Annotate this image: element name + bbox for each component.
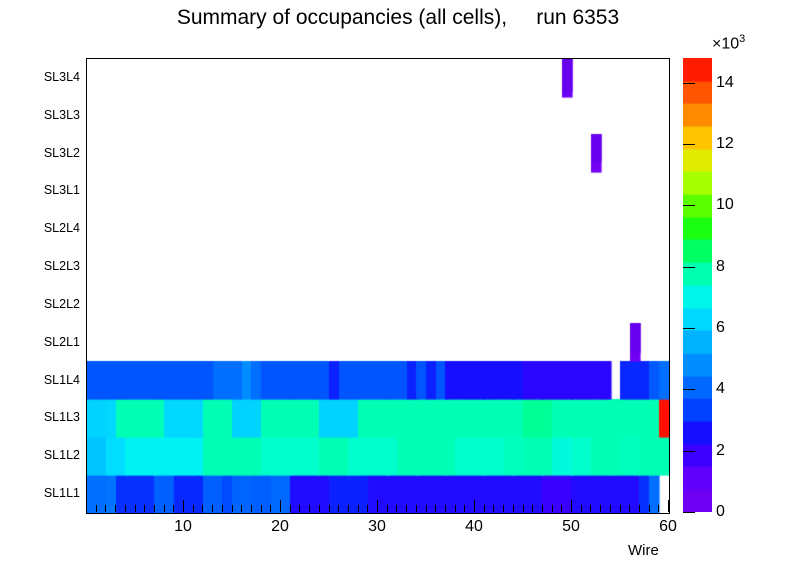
color-bar-tick-label: 12: [716, 135, 734, 153]
color-bar-canvas: [683, 58, 712, 512]
y-axis-tick-label: SL2L2: [2, 297, 80, 311]
x-axis-tick-mark: [464, 505, 465, 512]
x-axis-tick-mark: [571, 500, 572, 512]
x-axis-tick-mark: [629, 505, 630, 512]
color-bar-multiplier-base: ×10: [712, 35, 739, 52]
y-axis-tick-label: SL3L2: [2, 146, 80, 160]
x-axis-tick-mark: [193, 505, 194, 512]
heatmap-canvas: [87, 59, 669, 513]
x-axis-tick-mark: [474, 500, 475, 512]
root-canvas: Summary of occupancies (all cells), run …: [0, 0, 796, 572]
x-axis-tick-mark: [668, 500, 669, 512]
x-axis-tick-mark: [445, 505, 446, 512]
color-bar-multiplier-exponent: 3: [739, 33, 745, 45]
x-axis-tick-label: 50: [562, 518, 580, 536]
color-bar-tick-label: 2: [716, 442, 725, 460]
x-axis-tick-mark: [455, 505, 456, 512]
x-axis-tick-mark: [135, 505, 136, 512]
x-axis-tick-mark: [348, 505, 349, 512]
color-bar-tick-label: 8: [716, 258, 725, 276]
x-axis-tick-mark: [561, 505, 562, 512]
x-axis-title: Wire: [628, 542, 659, 559]
x-axis-tick-mark: [435, 505, 436, 512]
color-bar-tick-label: 14: [716, 74, 734, 92]
color-bar-tick-label: 0: [716, 503, 725, 521]
x-axis-tick-mark: [503, 505, 504, 512]
color-bar-tick-mark: [683, 451, 695, 452]
page-title: Summary of occupancies (all cells), run …: [0, 6, 796, 30]
x-axis-tick-mark: [658, 505, 659, 512]
color-bar-tick-label: 10: [716, 196, 734, 214]
x-axis-tick-mark: [426, 505, 427, 512]
y-axis-tick-label: SL3L3: [2, 108, 80, 122]
x-axis-tick-label: 20: [271, 518, 289, 536]
x-axis-tick-mark: [202, 505, 203, 512]
x-axis-tick-mark: [542, 505, 543, 512]
y-axis-labels: SL1L1SL1L2SL1L3SL1L4SL2L1SL2L2SL2L3SL2L4…: [0, 0, 80, 572]
y-axis-tick-label: SL1L1: [2, 486, 80, 500]
y-axis-tick-label: SL1L4: [2, 373, 80, 387]
y-axis-tick-label: SL3L4: [2, 70, 80, 84]
x-axis-tick-mark: [232, 505, 233, 512]
x-axis-tick-mark: [144, 505, 145, 512]
x-axis-tick-mark: [154, 505, 155, 512]
y-axis-tick-label: SL2L4: [2, 221, 80, 235]
plot-frame: [86, 58, 670, 514]
color-bar-tick-mark: [683, 267, 695, 268]
x-axis-tick-mark: [484, 505, 485, 512]
x-axis-tick-mark: [261, 505, 262, 512]
x-axis-tick-mark: [581, 505, 582, 512]
x-axis-tick-label: 30: [368, 518, 386, 536]
x-axis-tick-mark: [280, 500, 281, 512]
x-axis-tick-mark: [639, 505, 640, 512]
x-axis-tick-mark: [115, 505, 116, 512]
x-axis-tick-mark: [406, 505, 407, 512]
x-axis-tick-mark: [290, 505, 291, 512]
heatmap-area: [87, 59, 669, 513]
color-bar-tick-mark: [683, 328, 695, 329]
x-axis-tick-mark: [590, 505, 591, 512]
x-axis-tick-mark: [338, 505, 339, 512]
color-bar-multiplier: ×103: [712, 33, 745, 53]
x-axis-tick-mark: [299, 505, 300, 512]
x-axis-tick-mark: [96, 505, 97, 512]
x-axis-tick-mark: [125, 505, 126, 512]
color-bar-tick-label: 4: [716, 380, 725, 398]
x-axis-tick-mark: [610, 505, 611, 512]
color-bar-tick-mark: [683, 512, 695, 513]
x-axis-tick-mark: [309, 505, 310, 512]
y-axis-tick-label: SL3L1: [2, 183, 80, 197]
x-axis-tick-mark: [600, 505, 601, 512]
color-bar-tick-label: 6: [716, 319, 725, 337]
x-axis-tick-mark: [416, 505, 417, 512]
x-axis-tick-mark: [387, 505, 388, 512]
x-axis-tick-mark: [270, 505, 271, 512]
x-axis-tick-mark: [241, 505, 242, 512]
x-axis-tick-mark: [251, 505, 252, 512]
x-axis-tick-mark: [319, 505, 320, 512]
y-axis-tick-label: SL1L2: [2, 448, 80, 462]
color-bar-tick-mark: [683, 83, 695, 84]
x-axis-tick-mark: [513, 505, 514, 512]
color-bar: [683, 58, 712, 512]
x-axis-tick-mark: [523, 505, 524, 512]
x-axis-tick-mark: [552, 505, 553, 512]
x-axis-tick-mark: [493, 505, 494, 512]
x-axis-tick-mark: [164, 505, 165, 512]
x-axis-tick-mark: [173, 505, 174, 512]
x-axis-tick-mark: [396, 505, 397, 512]
x-axis-tick-mark: [212, 505, 213, 512]
x-axis-tick-mark: [329, 505, 330, 512]
x-axis-tick-mark: [222, 505, 223, 512]
x-axis-tick-mark: [105, 505, 106, 512]
x-axis-tick-label: 40: [465, 518, 483, 536]
x-axis-tick-label: 60: [659, 518, 677, 536]
y-axis-tick-label: SL2L1: [2, 335, 80, 349]
y-axis-tick-label: SL1L3: [2, 410, 80, 424]
x-axis-tick-mark: [183, 500, 184, 512]
x-axis-tick-mark: [377, 500, 378, 512]
x-axis-tick-mark: [649, 505, 650, 512]
color-bar-tick-mark: [683, 205, 695, 206]
x-axis-tick-mark: [367, 505, 368, 512]
x-axis-tick-mark: [620, 505, 621, 512]
x-axis-tick-mark: [532, 505, 533, 512]
x-axis-tick-mark: [358, 505, 359, 512]
x-axis-tick-label: 10: [174, 518, 192, 536]
y-axis-tick-label: SL2L3: [2, 259, 80, 273]
color-bar-tick-mark: [683, 389, 695, 390]
color-bar-tick-mark: [683, 144, 695, 145]
